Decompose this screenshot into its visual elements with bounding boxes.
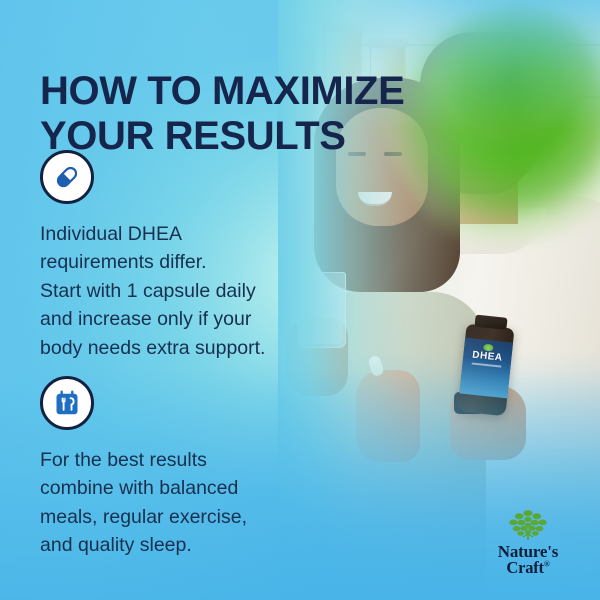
brand-name-line-2: Craft®: [476, 560, 580, 577]
tip-line: Individual DHEA: [40, 220, 318, 248]
tip-block-dosage: Individual DHEA requirements differ. Sta…: [40, 150, 318, 362]
tip-line: For the best results: [40, 446, 318, 474]
tip-line: body needs extra support.: [40, 334, 318, 362]
tip-line: and increase only if your: [40, 305, 318, 333]
tip-block-lifestyle: For the best results combine with balanc…: [40, 376, 318, 560]
brand-name: Nature's Craft®: [476, 543, 580, 577]
meal-plan-calendar-icon: [40, 376, 94, 430]
trademark-symbol: ®: [544, 559, 550, 568]
brand-name-craft: Craft: [506, 558, 543, 577]
tip-block-dosage-text: Individual DHEA requirements differ. Sta…: [40, 220, 318, 362]
green-tree-icon: [505, 508, 551, 542]
tip-line: requirements differ.: [40, 248, 318, 276]
capsule-pill-icon: [40, 150, 94, 204]
page-title-line-1: HOW TO MAXIMIZE: [40, 69, 404, 113]
page-title: HOW TO MAXIMIZE YOUR RESULTS: [40, 69, 510, 159]
tip-line: combine with balanced: [40, 474, 318, 502]
promo-poster: DHEA HOW TO MAXIMIZE YOUR RESULTS: [0, 0, 600, 600]
tip-block-lifestyle-text: For the best results combine with balanc…: [40, 446, 318, 560]
brand-logo: Nature's Craft®: [476, 508, 580, 577]
tip-line: meals, regular exercise,: [40, 503, 318, 531]
tip-line: Start with 1 capsule daily: [40, 277, 318, 305]
tip-line: and quality sleep.: [40, 531, 318, 559]
